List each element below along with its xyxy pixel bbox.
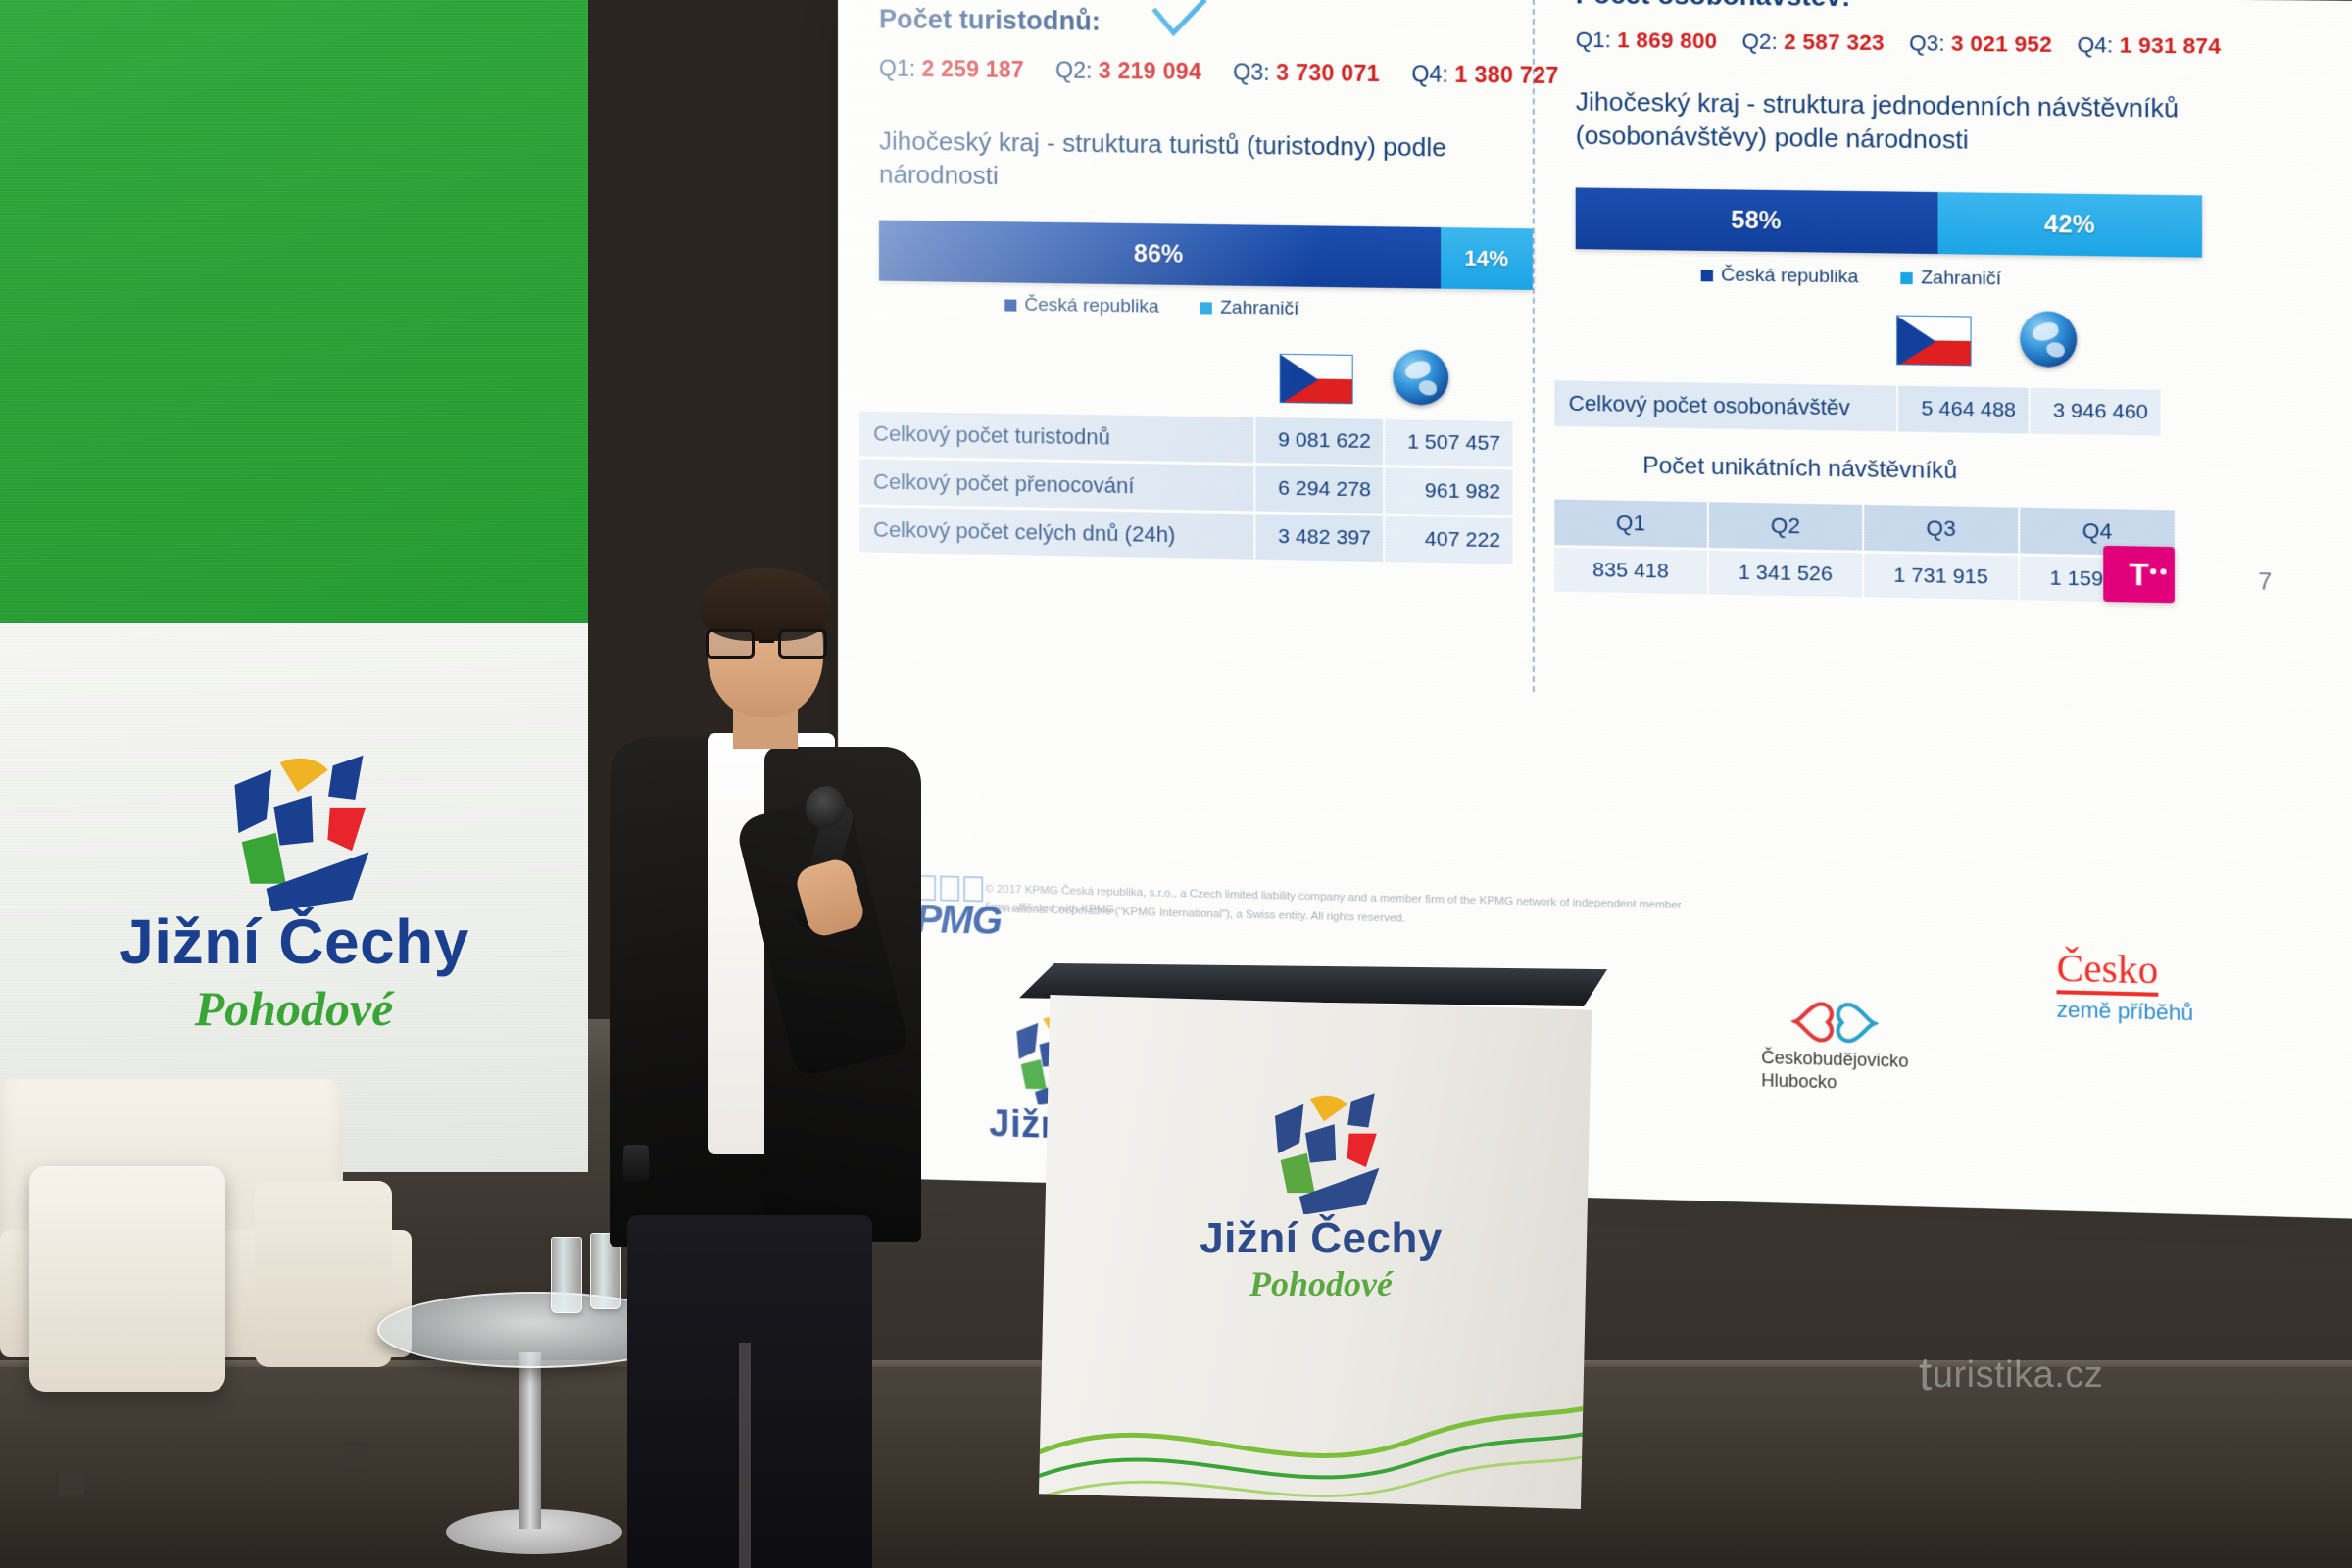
right-legend-foreign-label: Zahraničí — [1921, 268, 2001, 291]
right-chart-legend: Česká republika Zahraničí — [1701, 265, 2001, 291]
ceskobudejovicko-logo: Českobudějovicko Hlubocko — [1761, 999, 1908, 1095]
left-q4-value: 1 380 727 — [1454, 62, 1558, 88]
left-legend-foreign: Zahraničí — [1200, 297, 1298, 320]
left-row0-cz: 9 081 622 — [1255, 417, 1383, 465]
left-metric-header: Počet turistodnů: — [879, 4, 1101, 36]
cz-flag-icon — [1896, 315, 1971, 366]
right-legend-domestic-label: Česká republika — [1721, 265, 1858, 288]
podium-jizni-cechy-logo: Jižní Čechy Pohodové — [1154, 1085, 1488, 1304]
podium-body: Jižní Čechy Pohodové — [1039, 995, 1597, 1509]
watermark-initial: t — [1919, 1348, 1933, 1400]
left-row1-cz: 6 294 278 — [1255, 465, 1383, 514]
left-q2-label: Q2: — [1055, 57, 1092, 82]
left-row0-foreign: 1 507 457 — [1385, 419, 1512, 467]
left-stacked-bar-chart: 86% 14% — [879, 220, 1533, 290]
uv-value-q1: 835 418 — [1554, 548, 1707, 594]
cesko-wordmark: Česko — [2057, 948, 2159, 996]
sofa-arm-right — [255, 1181, 392, 1367]
slide-page-number: 7 — [2258, 568, 2272, 597]
ceskobudejovicko-label-1: Českobudějovicko — [1761, 1047, 1908, 1073]
slide-column-divider — [1533, 0, 1535, 692]
unique-visitors-title: Počet unikátních návštěvníků — [1642, 452, 1957, 485]
cesko-tagline: země příběhů — [2057, 997, 2194, 1026]
unique-visitors-table: Q1 Q2 Q3 Q4 835 418 1 341 526 1 731 915 … — [1552, 496, 2177, 606]
legend-swatch-foreign-icon — [1901, 272, 1913, 284]
podium-brand-subtitle: Pohodové — [1154, 1263, 1488, 1304]
left-row2-cz: 3 482 397 — [1255, 514, 1383, 562]
right-bar-domestic-segment: 58% — [1576, 187, 1937, 254]
right-stacked-bar-chart: 58% 42% — [1576, 187, 2202, 257]
right-table-globe — [2020, 311, 2077, 367]
conference-stage-scene: Jižní Čechy Pohodové Počet turistodnů: Q… — [0, 0, 2352, 1568]
uv-head-q2: Q2 — [1709, 502, 1862, 550]
left-bar-foreign-segment: 14% — [1441, 227, 1533, 290]
t-mobile-dots-icon — [2150, 568, 2167, 574]
left-row1-label: Celkový počet přenocování — [859, 459, 1253, 511]
left-row2-foreign: 407 222 — [1385, 516, 1512, 564]
globe-icon — [2020, 311, 2077, 367]
right-totals-table: Celkový počet osobonávštěv 5 464 488 3 9… — [1552, 377, 2162, 439]
table-row: Celkový počet turistodnů 9 081 622 1 507… — [859, 411, 1512, 466]
left-q1-value: 2 259 187 — [922, 56, 1024, 82]
ceskobudejovicko-label-2: Hlubocko — [1761, 1069, 1908, 1096]
table-row: Celkový počet přenocování 6 294 278 961 … — [859, 459, 1512, 515]
uv-head-q3: Q3 — [1864, 505, 2018, 554]
right-quarter-row: Q1: 1 869 800 Q2: 2 587 323 Q3: 3 021 95… — [1576, 27, 2222, 60]
right-q4-value: 1 931 874 — [2120, 32, 2222, 59]
right-row0-cz: 5 464 488 — [1898, 386, 2028, 434]
cesko-logo: Česko země příběhů — [2057, 948, 2194, 1026]
legend-swatch-domestic-icon — [1701, 269, 1713, 281]
podium-wave-graphic-icon — [1039, 1343, 1597, 1509]
right-q3-label: Q3: — [1909, 30, 1945, 56]
right-q3-value: 3 021 952 — [1951, 30, 2052, 57]
t-mobile-letter: T — [2129, 559, 2148, 591]
podium-brand-name: Jižní Čechy — [1154, 1214, 1488, 1263]
legend-swatch-foreign-icon — [1200, 302, 1212, 314]
sofa-arm-left — [29, 1166, 225, 1392]
left-legend-domestic-label: Česká republika — [1024, 295, 1158, 318]
water-glass — [551, 1237, 582, 1313]
left-q4-label: Q4: — [1411, 61, 1448, 87]
left-legend-foreign-label: Zahraničí — [1220, 298, 1298, 320]
left-table-globe — [1393, 349, 1448, 405]
turistika-watermark: turistika.cz — [1919, 1345, 2103, 1398]
uv-value-q3: 1 731 915 — [1864, 554, 2018, 601]
left-legend-domestic: Česká republika — [1004, 294, 1158, 318]
right-bar-foreign-segment: 42% — [1937, 192, 2202, 258]
right-q1-value: 1 869 800 — [1617, 27, 1717, 53]
right-q2-label: Q2: — [1741, 28, 1777, 54]
left-table-cz-flag — [1280, 354, 1353, 405]
right-table-cz-flag — [1896, 315, 1971, 366]
left-q1-label: Q1: — [879, 55, 915, 80]
eyeglasses-icon — [704, 629, 829, 659]
left-q3-label: Q3: — [1233, 59, 1270, 85]
left-chart-legend: Česká republika Zahraničí — [1004, 294, 1298, 319]
left-row1-foreign: 961 982 — [1385, 467, 1512, 515]
uv-head-q1: Q1 — [1554, 500, 1707, 548]
left-chart-title: Jihočeský kraj - struktura turistů (turi… — [879, 123, 1493, 199]
venue-brand-name: Jižní Čechy — [59, 906, 529, 978]
right-legend-domestic: Česká republika — [1701, 265, 1859, 289]
table-row: 835 418 1 341 526 1 731 915 1 159 724 — [1554, 548, 2175, 603]
left-q2-value: 3 219 094 — [1099, 58, 1201, 84]
left-row0-label: Celkový počet turistodnů — [859, 411, 1253, 463]
right-q2-value: 2 587 323 — [1784, 29, 1885, 55]
sofa-foot — [59, 1470, 84, 1495]
right-row0-foreign: 3 946 460 — [2031, 388, 2161, 436]
glass-table-stem — [519, 1352, 541, 1529]
t-mobile-logo: T — [2103, 546, 2175, 603]
left-bar-domestic-segment: 86% — [879, 220, 1441, 289]
presenter-person — [617, 568, 941, 1548]
venue-jizni-cechy-logo: Jižní Čechy Pohodové — [59, 745, 529, 1037]
globe-icon — [1393, 349, 1448, 405]
jizni-cechy-mark-icon — [201, 745, 387, 911]
legend-swatch-domestic-icon — [1004, 299, 1016, 311]
green-backdrop-wall — [0, 0, 588, 627]
venue-brand-subtitle: Pohodové — [59, 980, 529, 1037]
presentation-clicker — [623, 1145, 649, 1182]
cz-flag-icon — [1280, 354, 1353, 405]
right-q1-label: Q1: — [1576, 27, 1611, 53]
left-totals-table: Celkový počet turistodnů 9 081 622 1 507… — [857, 408, 1514, 566]
left-check-mark-icon — [1148, 0, 1211, 41]
jizni-cechy-mark-icon — [1248, 1085, 1395, 1214]
sofa-foot — [343, 1441, 368, 1466]
presenter-leg-gap — [739, 1343, 751, 1568]
right-legend-foreign: Zahraničí — [1901, 268, 2001, 291]
table-row: Celkový počet osobonávštěv 5 464 488 3 9… — [1554, 380, 2160, 435]
ceskobudejovicko-hearts-icon — [1761, 999, 1908, 1046]
right-q4-label: Q4: — [2077, 32, 2113, 58]
table-row: Celkový počet celých dnů (24h) 3 482 397… — [859, 507, 1512, 563]
table-header-row: Q1 Q2 Q3 Q4 — [1554, 500, 2175, 557]
uv-value-q2: 1 341 526 — [1709, 551, 1862, 597]
left-quarter-row: Q1: 2 259 187 Q2: 3 219 094 Q3: 3 730 07… — [879, 55, 1559, 89]
watermark-text: uristika.cz — [1933, 1354, 2103, 1396]
left-q3-value: 3 730 071 — [1276, 60, 1380, 86]
right-row0-label: Celkový počet osobonávštěv — [1554, 380, 1896, 431]
right-chart-title: Jihočeský kraj - struktura jednodenních … — [1576, 84, 2192, 160]
right-metric-header: Počet osobonávštěv: — [1576, 0, 1851, 13]
left-row2-label: Celkový počet celých dnů (24h) — [859, 507, 1253, 559]
